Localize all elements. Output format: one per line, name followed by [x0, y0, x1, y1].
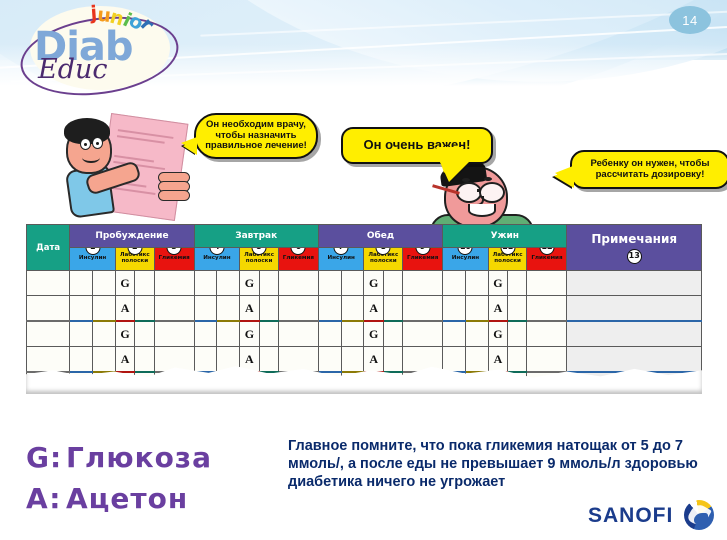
table-row[interactable]: GGGG	[27, 321, 702, 347]
sanofi-logo: SANOFI	[588, 500, 718, 534]
cell-insulin[interactable]	[70, 271, 93, 296]
cell-glycemia[interactable]	[403, 271, 443, 296]
doctor-eyebrow	[484, 177, 492, 181]
cell-insulin[interactable]	[70, 296, 93, 322]
page-number: 14	[669, 6, 711, 34]
cell-labstix-value[interactable]	[383, 321, 402, 347]
cell-glycemia[interactable]	[154, 296, 194, 322]
cell-labstix-marker[interactable]: A	[364, 347, 383, 373]
cell-insulin[interactable]	[93, 347, 116, 373]
bubble-1-tail	[181, 137, 197, 151]
cell-glycemia[interactable]	[403, 321, 443, 347]
cell-labstix-value[interactable]	[135, 321, 154, 347]
table-subheader-gly-12: 12Гликемия	[527, 248, 567, 271]
cell-insulin[interactable]	[341, 296, 364, 322]
cartoon-boy-with-logbook	[58, 112, 208, 220]
boy-pupil	[96, 142, 99, 145]
cell-insulin[interactable]	[194, 347, 217, 373]
cell-date[interactable]	[27, 271, 70, 296]
legend-key-a: A:	[26, 479, 66, 520]
table-header-meal-2: Завтрак	[194, 225, 318, 248]
cell-insulin[interactable]	[341, 321, 364, 347]
cell-labstix-marker[interactable]: A	[364, 296, 383, 322]
cell-insulin[interactable]	[443, 271, 466, 296]
sanofi-wordmark: SANOFI	[588, 504, 673, 528]
speech-bubble-doctor-note: Он необходим врачу, чтобы назначить прав…	[194, 113, 318, 159]
bubble-3-tail	[555, 166, 573, 184]
table-subheader-gly-3: 3Гликемия	[154, 248, 194, 271]
table-header-notes: Примечания13	[567, 225, 702, 271]
cell-insulin[interactable]	[93, 296, 116, 322]
cell-labstix-value[interactable]	[508, 271, 527, 296]
cell-labstix-value[interactable]	[135, 271, 154, 296]
cell-glycemia[interactable]	[278, 271, 318, 296]
cell-insulin[interactable]	[465, 271, 488, 296]
cell-insulin[interactable]	[318, 347, 341, 373]
cell-glycemia[interactable]	[278, 321, 318, 347]
cell-notes[interactable]	[567, 321, 702, 347]
cell-labstix-marker[interactable]: A	[488, 347, 507, 373]
cell-labstix-marker[interactable]: G	[364, 271, 383, 296]
table-subheader-ins-10: 10Инсулин	[443, 248, 489, 271]
table-subheader-gly-9: 9Гликемия	[403, 248, 443, 271]
cell-insulin[interactable]	[318, 321, 341, 347]
legend-row-glucose: G:Глюкоза	[26, 438, 212, 479]
cell-notes[interactable]	[567, 347, 702, 373]
key-message-text: Главное помните, что пока гликемия натощ…	[288, 438, 708, 492]
logo-diab-educ-junior: Diab Educ junior	[12, 2, 187, 102]
table-row[interactable]: GGGG	[27, 271, 702, 296]
cell-labstix-marker[interactable]: A	[115, 296, 134, 322]
cell-glycemia[interactable]	[527, 321, 567, 347]
table-subheader-lab-2: 2Лабстикс полоски	[115, 248, 154, 271]
cell-labstix-value[interactable]	[259, 347, 278, 373]
slide: 14 Diab Educ junior	[0, 0, 727, 540]
legend-value-acetone: Ацетон	[66, 482, 188, 515]
boy-smile	[82, 152, 100, 163]
cell-date[interactable]	[27, 296, 70, 322]
cell-labstix-value[interactable]	[135, 347, 154, 373]
cell-notes[interactable]	[567, 271, 702, 296]
cell-glycemia[interactable]	[278, 296, 318, 322]
cell-labstix-marker[interactable]: A	[488, 296, 507, 322]
cell-insulin[interactable]	[217, 321, 240, 347]
cell-insulin[interactable]	[70, 347, 93, 373]
cell-insulin[interactable]	[318, 271, 341, 296]
cell-labstix-marker[interactable]: G	[488, 271, 507, 296]
cell-glycemia[interactable]	[527, 296, 567, 322]
legend-key-g: G:	[26, 438, 66, 479]
legend-value-glucose: Глюкоза	[66, 441, 212, 474]
cell-labstix-value[interactable]	[259, 321, 278, 347]
table-subheader-ins-7: 7Инсулин	[318, 248, 364, 271]
cell-insulin[interactable]	[341, 271, 364, 296]
cell-labstix-value[interactable]	[383, 271, 402, 296]
cell-insulin[interactable]	[93, 271, 116, 296]
cell-labstix-marker[interactable]: A	[115, 347, 134, 373]
cell-insulin[interactable]	[465, 321, 488, 347]
cell-labstix-marker[interactable]: G	[240, 271, 259, 296]
logo-text-educ: Educ	[38, 54, 108, 85]
cell-insulin[interactable]	[194, 271, 217, 296]
cell-labstix-marker[interactable]: G	[488, 321, 507, 347]
cell-insulin[interactable]	[93, 321, 116, 347]
sanofi-swirl-icon	[684, 500, 714, 530]
cell-insulin[interactable]	[465, 347, 488, 373]
speech-bubble-child-dose: Ребенку он нужен, чтобы рассчитать дозир…	[570, 150, 727, 189]
table-subheader-lab-5: 5Лабстикс полоски	[240, 248, 279, 271]
legend-row-acetone: A:Ацетон	[26, 479, 212, 520]
cell-insulin[interactable]	[194, 296, 217, 322]
table-header-meal-3: Обед	[318, 225, 442, 248]
cell-labstix-value[interactable]	[259, 271, 278, 296]
table-row[interactable]: AAAA	[27, 296, 702, 322]
cell-glycemia[interactable]	[278, 347, 318, 373]
speech-bubble-important: Он очень важен!	[341, 127, 493, 164]
cell-glycemia[interactable]	[527, 271, 567, 296]
cell-labstix-value[interactable]	[383, 347, 402, 373]
logbook-grid: ДатаПробуждениеЗавтракОбедУжинПримечания…	[26, 224, 702, 394]
table-subheader-lab-11: 11Лабстикс полоски	[488, 248, 527, 271]
cell-insulin[interactable]	[443, 296, 466, 322]
cell-labstix-value[interactable]	[135, 296, 154, 322]
cell-labstix-marker[interactable]: G	[115, 321, 134, 347]
cell-insulin[interactable]	[194, 321, 217, 347]
cell-insulin[interactable]	[443, 321, 466, 347]
cell-insulin[interactable]	[341, 347, 364, 373]
boy-pupil	[84, 143, 87, 146]
cell-labstix-marker[interactable]: G	[364, 321, 383, 347]
cell-labstix-value[interactable]	[383, 296, 402, 322]
table-row[interactable]: AAAA	[27, 347, 702, 373]
cell-insulin[interactable]	[318, 296, 341, 322]
cell-labstix-marker[interactable]: G	[240, 321, 259, 347]
cell-date[interactable]	[27, 321, 70, 347]
cell-labstix-value[interactable]	[508, 347, 527, 373]
cell-labstix-value[interactable]	[508, 321, 527, 347]
doctor-smile	[468, 204, 496, 217]
table-subheader-ins-1: 1Инсулин	[70, 248, 116, 271]
boy-fingers	[158, 172, 192, 206]
cell-notes[interactable]	[567, 296, 702, 322]
doctor-glasses-bridge	[477, 189, 481, 192]
table-header-meal-1: Пробуждение	[70, 225, 194, 248]
cell-glycemia[interactable]	[403, 296, 443, 322]
cell-insulin[interactable]	[70, 321, 93, 347]
cell-labstix-marker[interactable]: G	[115, 271, 134, 296]
cell-labstix-value[interactable]	[259, 296, 278, 322]
table-subheader-ins-4: 4Инсулин	[194, 248, 240, 271]
table-header-meal-4: Ужин	[443, 225, 567, 248]
cell-glycemia[interactable]	[527, 347, 567, 373]
table-subheader-gly-6: 6Гликемия	[278, 248, 318, 271]
table-subheader-lab-8: 8Лабстикс полоски	[364, 248, 403, 271]
table-header-date: Дата	[27, 225, 70, 271]
cell-date[interactable]	[27, 347, 70, 373]
bubble-2-tail	[436, 147, 464, 173]
cell-glycemia[interactable]	[154, 271, 194, 296]
cell-insulin[interactable]	[217, 296, 240, 322]
cell-labstix-value[interactable]	[508, 296, 527, 322]
legend-ga: G:Глюкоза A:Ацетон	[26, 438, 212, 519]
glycemia-logbook-table[interactable]: ДатаПробуждениеЗавтракОбедУжинПримечания…	[26, 224, 702, 394]
cell-labstix-marker[interactable]: A	[240, 296, 259, 322]
cell-insulin[interactable]	[217, 271, 240, 296]
table-header-meals: ДатаПробуждениеЗавтракОбедУжинПримечания…	[27, 225, 702, 248]
cell-glycemia[interactable]	[154, 321, 194, 347]
cell-insulin[interactable]	[443, 347, 466, 373]
cell-insulin[interactable]	[465, 296, 488, 322]
